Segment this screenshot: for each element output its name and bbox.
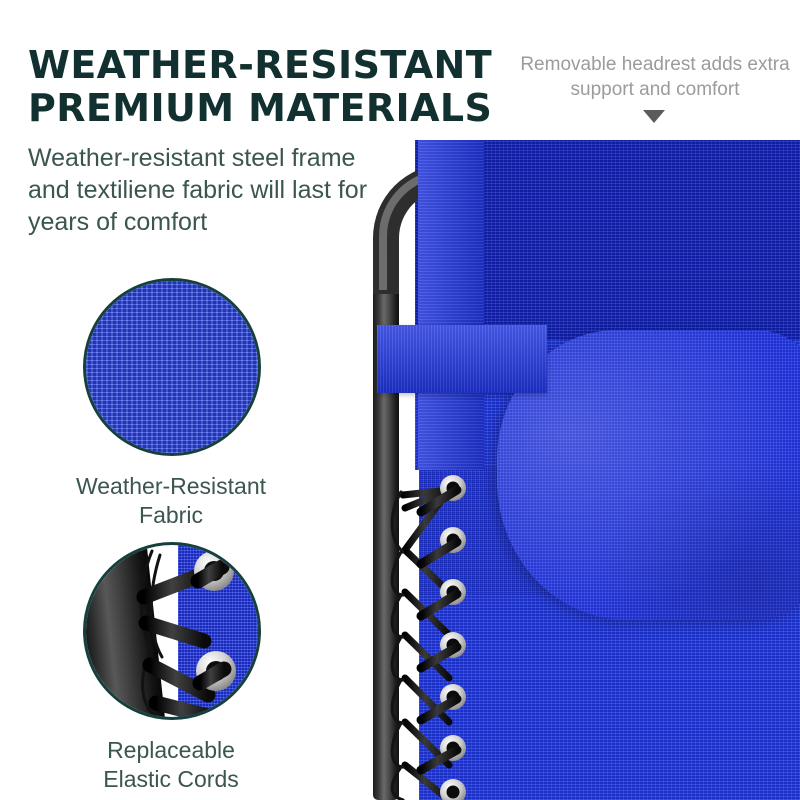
triangle-down-icon <box>643 110 665 123</box>
subtitle-text: Weather-resistant steel frame and textil… <box>28 142 398 238</box>
cords-closeup-circle <box>83 542 261 720</box>
elastic-cord-lacing <box>345 140 800 800</box>
callout-weather-resistant-fabric: Weather-Resistant Fabric <box>83 278 286 529</box>
headline-line-2: PREMIUM MATERIALS <box>28 87 508 130</box>
callout-caption: Replaceable Elastic Cords <box>56 736 286 793</box>
product-feature-image: WEATHER-RESISTANT PREMIUM MATERIALS Weat… <box>0 0 800 800</box>
product-photo <box>345 140 800 800</box>
callout-caption-line-2: Elastic Cords <box>56 765 286 794</box>
textilene-weave-swatch <box>86 281 258 453</box>
headrest-annotation-text: Removable headrest adds extra support an… <box>520 52 790 103</box>
fabric-swatch-circle <box>83 278 261 456</box>
callout-replaceable-elastic-cords: Replaceable Elastic Cords <box>83 542 286 793</box>
closeup-cords-and-grommets <box>86 545 258 717</box>
callout-caption-line-2: Fabric <box>56 501 286 530</box>
callout-caption-line-1: Weather-Resistant <box>56 472 286 501</box>
page-title: WEATHER-RESISTANT PREMIUM MATERIALS <box>28 44 508 131</box>
headline-line-1: WEATHER-RESISTANT <box>28 44 508 87</box>
callout-caption: Weather-Resistant Fabric <box>56 472 286 529</box>
callout-caption-line-1: Replaceable <box>56 736 286 765</box>
